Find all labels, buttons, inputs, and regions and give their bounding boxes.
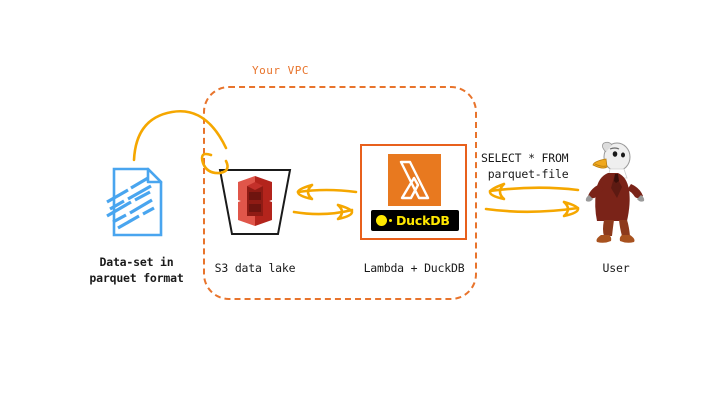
arrow-lambda-to-user — [490, 184, 578, 199]
user-caption: User — [588, 260, 644, 276]
s3-bucket-icon — [216, 162, 294, 240]
user-duck-icon — [584, 140, 646, 250]
duck-beak-icon — [389, 219, 393, 223]
arrow-user-to-lambda — [486, 202, 578, 216]
duck-head-icon — [376, 215, 387, 226]
s3-bucket-caption: S3 data lake — [200, 260, 310, 276]
vpc-label: Your VPC — [248, 64, 313, 77]
parquet-caption-line2: parquet format — [89, 271, 183, 285]
duckdb-logo: DuckDB — [371, 210, 459, 231]
parquet-caption-line1: Data-set in — [100, 255, 174, 269]
lambda-duckdb-card: DuckDB — [360, 144, 467, 240]
parquet-file-icon — [104, 166, 166, 238]
sql-query-line2: parquet-file — [488, 167, 569, 181]
lambda-duckdb-caption: Lambda + DuckDB — [348, 260, 480, 276]
sql-query-line1: SELECT * FROM — [481, 151, 568, 165]
aws-lambda-icon — [388, 154, 441, 206]
duckdb-label: DuckDB — [396, 213, 450, 228]
parquet-file-caption: Data-set inparquet format — [64, 254, 209, 286]
diagram-canvas: Your VPC Data-set inparquet format — [0, 0, 720, 405]
sql-query-text: SELECT * FROM parquet-file — [481, 150, 568, 182]
